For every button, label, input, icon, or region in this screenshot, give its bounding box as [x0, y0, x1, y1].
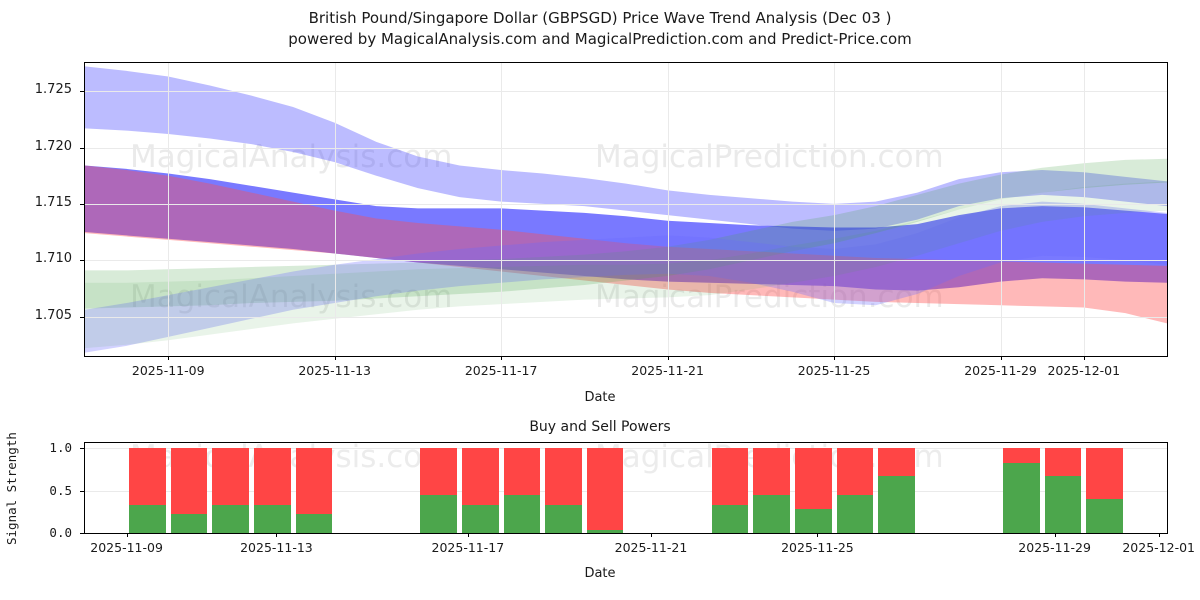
buy-power-segment	[254, 505, 291, 533]
sell-power-segment	[795, 448, 832, 509]
price-band-svg	[85, 63, 1167, 356]
signal-bar[interactable]	[129, 448, 166, 533]
chart-page: British Pound/Singapore Dollar (GBPSGD) …	[0, 0, 1200, 600]
price-y-tick-label: 1.715	[0, 195, 72, 210]
signal-x-tick-label: 2025-11-17	[408, 540, 528, 555]
signal-bar[interactable]	[212, 448, 249, 533]
sell-power-segment	[254, 448, 291, 505]
price-y-tick-label: 1.710	[0, 251, 72, 266]
signal-bar[interactable]	[296, 448, 333, 533]
signal-bar[interactable]	[878, 448, 915, 533]
price-x-tick-label: 2025-11-25	[774, 363, 894, 378]
sell-power-segment	[420, 448, 457, 495]
signal-y-tick-label: 1.0	[0, 440, 72, 455]
signal-bar[interactable]	[1086, 448, 1123, 533]
signal-bar[interactable]	[504, 448, 541, 533]
signal-x-tick-label: 2025-12-01	[1099, 540, 1200, 555]
buy-power-segment	[504, 495, 541, 533]
sell-power-segment	[837, 448, 874, 495]
price-x-tick-label: 2025-11-17	[441, 363, 561, 378]
buy-power-segment	[129, 505, 166, 533]
sell-power-segment	[171, 448, 208, 514]
signal-bar[interactable]	[837, 448, 874, 533]
price-vertical-gridline	[335, 63, 336, 356]
buy-power-segment	[171, 514, 208, 533]
price-y-axis-label: Price	[0, 158, 1, 190]
sell-power-segment	[878, 448, 915, 476]
price-vertical-gridline	[1084, 63, 1085, 356]
sell-power-segment	[587, 448, 624, 530]
signal-bar[interactable]	[1003, 448, 1040, 533]
price-y-tick-label: 1.725	[0, 82, 72, 97]
signal-bar[interactable]	[753, 448, 790, 533]
signal-bar[interactable]	[587, 448, 624, 533]
buy-power-segment	[1086, 499, 1123, 533]
buy-power-segment	[753, 495, 790, 533]
buy-power-segment	[878, 476, 915, 533]
sell-power-segment	[753, 448, 790, 495]
signal-y-tick-label: 0.5	[0, 483, 72, 498]
sell-power-segment	[1086, 448, 1123, 499]
price-gridline	[85, 317, 1167, 318]
signal-bar[interactable]	[712, 448, 749, 533]
price-vertical-gridline	[501, 63, 502, 356]
signal-x-tick-label: 2025-11-09	[67, 540, 187, 555]
page-title: British Pound/Singapore Dollar (GBPSGD) …	[0, 8, 1200, 50]
signal-bar[interactable]	[545, 448, 582, 533]
buy-power-segment	[587, 530, 624, 533]
signal-x-tick-label: 2025-11-21	[591, 540, 711, 555]
price-gridline	[85, 204, 1167, 205]
signal-bar[interactable]	[171, 448, 208, 533]
buy-power-segment	[712, 505, 749, 533]
price-x-tick-label: 2025-11-21	[608, 363, 728, 378]
signal-bar[interactable]	[1045, 448, 1082, 533]
title-line-2: powered by MagicalAnalysis.com and Magic…	[0, 29, 1200, 50]
sell-power-segment	[129, 448, 166, 505]
price-y-tick-label: 1.720	[0, 139, 72, 154]
title-line-1: British Pound/Singapore Dollar (GBPSGD) …	[0, 8, 1200, 29]
price-plot-area: MagicalAnalysis.comMagicalPrediction.com…	[84, 62, 1168, 357]
sell-power-segment	[462, 448, 499, 505]
buy-power-segment	[296, 514, 333, 533]
buy-power-segment	[1045, 476, 1082, 533]
price-vertical-gridline	[1001, 63, 1002, 356]
signal-x-tick-label: 2025-11-13	[216, 540, 336, 555]
buy-power-segment	[795, 509, 832, 533]
price-y-tick-label: 1.705	[0, 308, 72, 323]
buy-power-segment	[545, 505, 582, 533]
buy-power-segment	[420, 495, 457, 533]
signal-x-tick-label: 2025-11-29	[995, 540, 1115, 555]
price-x-tick-label: 2025-12-01	[1024, 363, 1144, 378]
signal-bar[interactable]	[254, 448, 291, 533]
sell-power-segment	[545, 448, 582, 505]
price-x-tick-label: 2025-11-09	[108, 363, 228, 378]
signal-bar[interactable]	[462, 448, 499, 533]
price-gridline	[85, 91, 1167, 92]
sell-power-segment	[1045, 448, 1082, 476]
sell-power-segment	[504, 448, 541, 495]
buy-power-segment	[837, 495, 874, 533]
price-x-axis-label: Date	[0, 390, 1200, 405]
price-x-tick-label: 2025-11-13	[275, 363, 395, 378]
price-vertical-gridline	[168, 63, 169, 356]
signal-x-tick-label: 2025-11-25	[757, 540, 877, 555]
price-vertical-gridline	[834, 63, 835, 356]
price-vertical-gridline	[668, 63, 669, 356]
buy-power-segment	[462, 505, 499, 533]
signal-plot-area: MagicalAnalysis.comMagicalPrediction.com	[84, 442, 1168, 534]
sell-power-segment	[1003, 448, 1040, 462]
signal-x-axis-label: Date	[0, 566, 1200, 581]
price-gridline	[85, 260, 1167, 261]
signal-bar[interactable]	[420, 448, 457, 533]
buy-power-segment	[212, 505, 249, 533]
sell-power-segment	[712, 448, 749, 505]
sell-power-segment	[296, 448, 333, 514]
sell-power-segment	[212, 448, 249, 505]
signal-chart-title: Buy and Sell Powers	[0, 419, 1200, 435]
signal-bar[interactable]	[795, 448, 832, 533]
price-gridline	[85, 148, 1167, 149]
buy-power-segment	[1003, 463, 1040, 533]
signal-y-tick-label: 0.0	[0, 525, 72, 540]
